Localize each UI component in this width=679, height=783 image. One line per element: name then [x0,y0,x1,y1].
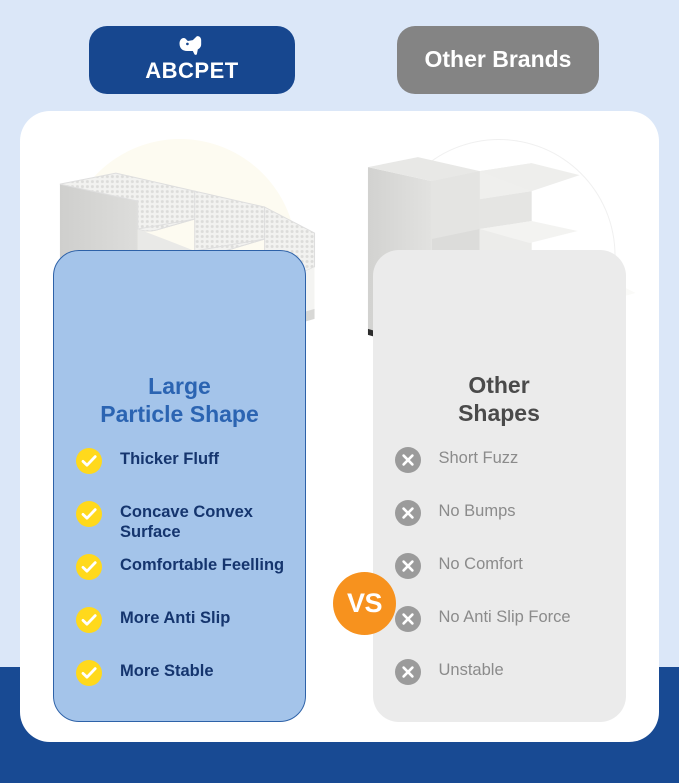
comparison-card: Large Particle Shape Thicker Fluff Conca… [20,111,659,742]
list-item-label: Unstable [439,658,504,680]
check-circle-icon [76,554,102,580]
list-item: Unstable [395,658,612,711]
list-item: Thicker Fluff [76,447,291,500]
comparison-infographic: ABCPET Other Brands [0,0,679,783]
right-column: Other Shapes Short Fuzz No Bumps [340,111,660,742]
list-item: More Stable [76,659,291,712]
header-badges: ABCPET Other Brands [0,26,679,96]
check-circle-icon [76,660,102,686]
check-circle-icon [76,607,102,633]
cross-circle-icon [395,500,421,526]
left-column: Large Particle Shape Thicker Fluff Conca… [20,111,340,742]
list-item: No Anti Slip Force [395,605,612,658]
cross-circle-icon [395,553,421,579]
left-panel-title: Large Particle Shape [54,373,305,428]
list-item: Short Fuzz [395,446,612,499]
brand-badge: ABCPET [89,26,295,94]
other-brands-badge: Other Brands [397,26,599,94]
right-panel-title: Other Shapes [373,372,626,427]
list-item-label: No Anti Slip Force [439,605,571,627]
list-item-label: More Anti Slip [120,606,230,628]
left-panel: Large Particle Shape Thicker Fluff Conca… [53,250,306,722]
check-circle-icon [76,448,102,474]
list-item: No Bumps [395,499,612,552]
right-panel: Other Shapes Short Fuzz No Bumps [373,250,626,722]
left-feature-list: Thicker Fluff Concave Convex Surface Com… [54,447,305,712]
list-item-label: Concave Convex Surface [120,500,291,542]
brand-badge-label: ABCPET [145,58,238,84]
list-item: Comfortable Feelling [76,553,291,606]
cross-circle-icon [395,659,421,685]
list-item: Concave Convex Surface [76,500,291,553]
list-item: More Anti Slip [76,606,291,659]
list-item: No Comfort [395,552,612,605]
list-item-label: No Bumps [439,499,516,521]
check-circle-icon [76,501,102,527]
right-feature-list: Short Fuzz No Bumps No Comfort [373,446,626,711]
dog-head-icon [175,36,209,56]
cross-circle-icon [395,606,421,632]
list-item-label: No Comfort [439,552,523,574]
cross-circle-icon [395,447,421,473]
vs-badge: VS [333,572,396,635]
list-item-label: Comfortable Feelling [120,553,284,575]
list-item-label: Thicker Fluff [120,447,219,469]
list-item-label: Short Fuzz [439,446,519,468]
list-item-label: More Stable [120,659,214,681]
